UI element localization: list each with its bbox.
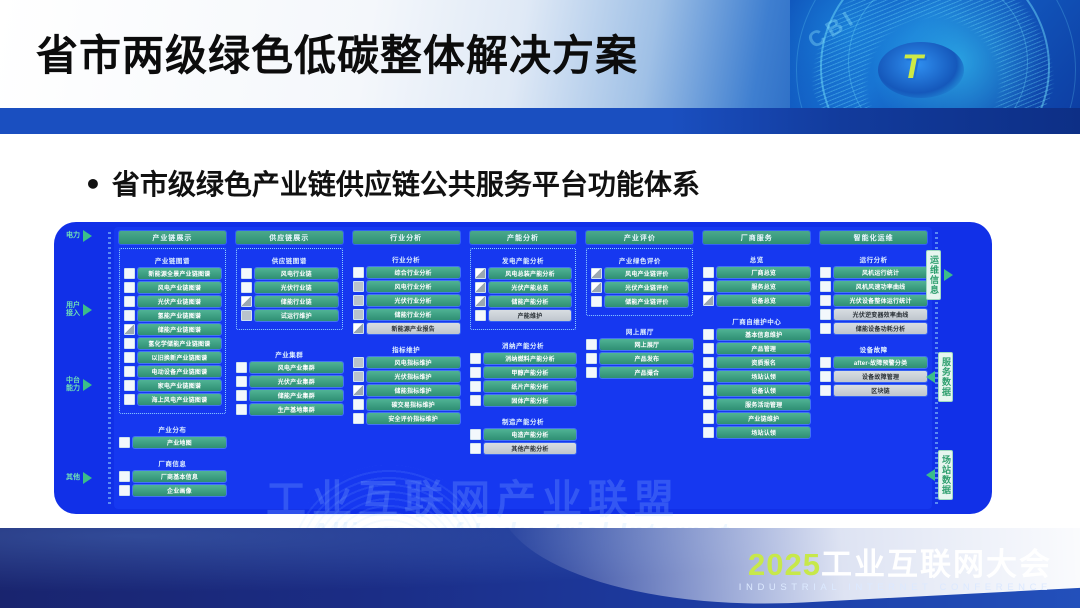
function-item-row[interactable]: 区块链	[820, 385, 927, 396]
diagram-body: 工业互联网产业联盟 Alliance of Industrial Interne…	[114, 227, 932, 509]
triangle-right-icon	[83, 304, 92, 316]
function-item-row[interactable]: 光伏产能总览	[475, 282, 572, 293]
logo-en: INDUSTRIAL INTERNET CONFERENCE	[739, 582, 1052, 593]
function-item-button[interactable]: 光伏产业链评价	[605, 282, 688, 293]
function-item-row[interactable]: 海上风电产业链图谱	[124, 394, 221, 405]
function-item-button[interactable]: 风电产业链评价	[605, 268, 688, 279]
checkbox-icon[interactable]	[820, 309, 831, 320]
checkbox-icon[interactable]	[475, 310, 486, 321]
checkbox-icon[interactable]	[591, 282, 602, 293]
checkbox-icon[interactable]	[703, 281, 714, 292]
function-item-button[interactable]: 风电产业集群	[250, 362, 343, 373]
checkbox-icon[interactable]	[475, 268, 486, 279]
triangle-left-icon	[926, 469, 935, 481]
function-column: 行业分析行业分析综合行业分析风电行业分析光伏行业分析储能行业分析新能源产业报告指…	[348, 227, 465, 509]
function-item-button[interactable]: 产能维护	[489, 310, 572, 321]
function-item-button[interactable]: 服务总览	[717, 281, 810, 292]
function-section: 制造产能分析电造产能分析其他产能分析	[470, 410, 577, 454]
checkbox-icon[interactable]	[703, 295, 714, 306]
function-item-row[interactable]: 资质报名	[703, 357, 810, 368]
checkbox-icon[interactable]	[124, 282, 135, 293]
section-title: 产业链图谱	[124, 255, 221, 265]
function-section: 厂商信息厂商基本信息企业画像	[119, 452, 226, 496]
function-item-row[interactable]: 光伏设备整体运行统计	[820, 295, 927, 306]
function-item-row[interactable]: 风电指标维护	[353, 357, 460, 368]
section-title: 网上展厅	[586, 326, 693, 336]
triangle-right-icon	[83, 379, 92, 391]
function-item-row[interactable]: 储能设备功耗分析	[820, 323, 927, 334]
function-item-row[interactable]: 产业地图	[119, 437, 226, 448]
triangle-right-icon	[944, 269, 953, 281]
section-title: 产业分布	[119, 424, 226, 434]
function-item-button[interactable]: 光伏指标维护	[367, 371, 460, 382]
checkbox-icon[interactable]	[236, 362, 247, 373]
function-column: 供应链展示供应链图谱风电行业链光伏行业链储能行业链试运行维护产业集群风电产业集群…	[231, 227, 348, 509]
function-item-row[interactable]: 服务总览	[703, 281, 810, 292]
checkbox-icon[interactable]	[124, 366, 135, 377]
column-header[interactable]: 产业评价	[586, 231, 693, 244]
function-item-button[interactable]: 储能产业集群	[250, 390, 343, 401]
function-section: 产业链图谱新能源全景产业链图谱风电产业链图谱光伏产业链图谱氢能产业链图谱储能产业…	[119, 248, 226, 414]
function-item-button[interactable]: 光伏设备整体运行统计	[834, 295, 927, 306]
checkbox-icon[interactable]	[703, 399, 714, 410]
function-item-button[interactable]: 甲醇产能分析	[484, 367, 577, 378]
function-item-row[interactable]: 氢化学储能产业链图谱	[124, 338, 221, 349]
column-header[interactable]: 产能分析	[470, 231, 577, 244]
function-item-row[interactable]: 储能产业链图谱	[124, 324, 221, 335]
checkbox-icon[interactable]	[124, 268, 135, 279]
function-item-button[interactable]: 氢能产业链图谱	[138, 310, 221, 321]
checkbox-icon[interactable]	[820, 385, 831, 396]
function-item-button[interactable]: 风电指标维护	[367, 357, 460, 368]
function-item-button[interactable]: 综合行业分析	[367, 267, 460, 278]
checkbox-icon[interactable]	[241, 268, 252, 279]
checkbox-icon[interactable]	[591, 296, 602, 307]
checkbox-icon[interactable]	[703, 329, 714, 340]
function-item-button[interactable]: 新能源产业报告	[367, 323, 460, 334]
function-item-button[interactable]: 其他产能分析	[484, 443, 577, 454]
column-header[interactable]: 行业分析	[353, 231, 460, 244]
function-item-button[interactable]: 氢化学储能产业链图谱	[138, 338, 221, 349]
function-item-button[interactable]: 光伏行业链	[255, 282, 338, 293]
function-item-button[interactable]: 基本信息维护	[717, 329, 810, 340]
rail-left-label: 中台 能力	[66, 377, 80, 393]
function-item-button[interactable]: 风机运行统计	[834, 267, 927, 278]
section-title: 厂商信息	[119, 458, 226, 468]
section-title: 指标维护	[353, 344, 460, 354]
function-section: 行业分析综合行业分析风电行业分析光伏行业分析储能行业分析新能源产业报告	[353, 248, 460, 334]
column-header[interactable]: 智能化运维	[820, 231, 927, 244]
input-rail-left	[54, 222, 114, 514]
rail-tick-marks-left	[108, 232, 111, 504]
function-item-row[interactable]: 储能行业分析	[353, 309, 460, 320]
function-item-button[interactable]: 企业画像	[133, 485, 226, 496]
checkbox-icon[interactable]	[470, 429, 481, 440]
checkbox-icon[interactable]	[820, 267, 831, 278]
function-item-row[interactable]: 风电产业链评价	[591, 268, 688, 279]
function-columns: 产业链展示产业链图谱新能源全景产业链图谱风电产业链图谱光伏产业链图谱氢能产业链图…	[114, 227, 932, 509]
function-item-row[interactable]: 光伏逆变器效率曲线	[820, 309, 927, 320]
slide-root: CBI T 省市两级绿色低碳整体解决方案 •省市级绿色产业链供应链公共服务平台功…	[0, 0, 1080, 608]
function-section: 产业分布产业地图	[119, 418, 226, 448]
function-item-row[interactable]: 试运行维护	[241, 310, 338, 321]
function-item-button[interactable]: 厂商总览	[717, 267, 810, 278]
checkbox-icon[interactable]	[475, 282, 486, 293]
function-item-row[interactable]: 储能产能分析	[475, 296, 572, 307]
function-item-button[interactable]: 服务活动管理	[717, 399, 810, 410]
function-item-button[interactable]: 固体产能分析	[484, 395, 577, 406]
column-header[interactable]: 供应链展示	[236, 231, 343, 244]
function-item-row[interactable]: 生产基地集群	[236, 404, 343, 415]
function-item-row[interactable]: 产品发布	[586, 353, 693, 364]
checkbox-icon[interactable]	[820, 371, 831, 382]
function-item-button[interactable]: 电造产能分析	[484, 429, 577, 440]
function-item-button[interactable]: 产业链维护	[717, 413, 810, 424]
checkbox-icon[interactable]	[470, 443, 481, 454]
function-item-button[interactable]: 产品撮合	[600, 367, 693, 378]
function-column: 产业链展示产业链图谱新能源全景产业链图谱风电产业链图谱光伏产业链图谱氢能产业链图…	[114, 227, 231, 509]
function-item-button[interactable]: 光伏行业分析	[367, 295, 460, 306]
checkbox-icon[interactable]	[820, 281, 831, 292]
function-item-button[interactable]: 储能行业分析	[367, 309, 460, 320]
subtitle-text: 省市级绿色产业链供应链公共服务平台功能体系	[112, 168, 700, 201]
checkbox-icon[interactable]	[353, 399, 364, 410]
function-item-row[interactable]: 设备故障管理	[820, 371, 927, 382]
checkbox-icon[interactable]	[119, 485, 130, 496]
function-item-row[interactable]: 储能产业链评价	[591, 296, 688, 307]
checkbox-icon[interactable]	[241, 310, 252, 321]
section-subtitle: •省市级绿色产业链供应链公共服务平台功能体系	[84, 163, 700, 203]
function-item-button[interactable]: 生产基地集群	[250, 404, 343, 415]
checkbox-icon[interactable]	[470, 353, 481, 364]
checkbox-icon[interactable]	[703, 427, 714, 438]
function-item-button[interactable]: 场站认领	[717, 427, 810, 438]
function-item-button[interactable]: after-故障预警分类	[834, 357, 927, 368]
checkbox-icon[interactable]	[703, 385, 714, 396]
checkbox-icon[interactable]	[353, 371, 364, 382]
checkbox-icon[interactable]	[820, 295, 831, 306]
checkbox-icon[interactable]	[703, 357, 714, 368]
function-item-button[interactable]: 储能产业链图谱	[138, 324, 221, 335]
function-item-button[interactable]: 光伏产业集群	[250, 376, 343, 387]
column-header[interactable]: 产业链展示	[119, 231, 226, 244]
checkbox-icon[interactable]	[475, 296, 486, 307]
function-item-button[interactable]: 场站认领	[717, 371, 810, 382]
t-logo-glyph: T	[902, 50, 923, 84]
function-item-row[interactable]: 风电总装产能分析	[475, 268, 572, 279]
bullet-icon: •	[84, 168, 102, 201]
checkbox-icon[interactable]	[820, 357, 831, 368]
function-section: 消纳产能分析消纳燃料产能分析甲醇产能分析纸片产能分析固体产能分析	[470, 334, 577, 406]
checkbox-icon[interactable]	[353, 357, 364, 368]
checkbox-icon[interactable]	[119, 471, 130, 482]
function-item-button[interactable]: 光伏产业链图谱	[138, 296, 221, 307]
function-item-row[interactable]: 固体产能分析	[470, 395, 577, 406]
platform-function-diagram: 工业互联网产业联盟 Alliance of Industrial Interne…	[54, 222, 992, 514]
function-item-row[interactable]: 安全评价指标维护	[353, 413, 460, 424]
title-underbar	[0, 108, 1080, 134]
function-item-row[interactable]: 企业画像	[119, 485, 226, 496]
checkbox-icon[interactable]	[470, 367, 481, 378]
function-item-row[interactable]: 基本信息维护	[703, 329, 810, 340]
function-item-row[interactable]: 风电行业分析	[353, 281, 460, 292]
rail-left-label: 用户 接入	[66, 302, 80, 318]
function-section: 指标维护风电指标维护光伏指标维护储能指标维护碳交易指标维护安全评价指标维护	[353, 338, 460, 424]
function-item-button[interactable]: 风电行业链	[255, 268, 338, 279]
function-item-button[interactable]: 设备认领	[717, 385, 810, 396]
function-item-row[interactable]: 风机风速功率曲线	[820, 281, 927, 292]
function-section: 供应链图谱风电行业链光伏行业链储能行业链试运行维护	[236, 248, 343, 330]
function-item-row[interactable]: 纸片产能分析	[470, 381, 577, 392]
function-item-button[interactable]: 厂商基本信息	[133, 471, 226, 482]
function-item-button[interactable]: 电动设备产业链图谱	[138, 366, 221, 377]
function-item-button[interactable]: 资质报名	[717, 357, 810, 368]
function-section: 网上展厅网上展厅产品发布产品撮合	[586, 320, 693, 378]
banner-decoration-graphic: CBI T	[790, 0, 1080, 112]
function-item-row[interactable]: 产品管理	[703, 343, 810, 354]
section-title: 总览	[703, 254, 810, 264]
function-item-button[interactable]: 风电产业链图谱	[138, 282, 221, 293]
function-item-row[interactable]: 电动设备产业链图谱	[124, 366, 221, 377]
function-item-button[interactable]: 风电总装产能分析	[489, 268, 572, 279]
function-item-row[interactable]: 储能行业链	[241, 296, 338, 307]
function-item-row[interactable]: 氢能产业链图谱	[124, 310, 221, 321]
checkbox-icon[interactable]	[236, 390, 247, 401]
function-item-row[interactable]: 其他产能分析	[470, 443, 577, 454]
function-column: 产业评价产业绿色评价风电产业链评价光伏产业链评价储能产业链评价网上展厅网上展厅产…	[581, 227, 698, 509]
checkbox-icon[interactable]	[591, 268, 602, 279]
section-title: 发电产能分析	[475, 255, 572, 265]
function-item-row[interactable]: 产能维护	[475, 310, 572, 321]
function-item-button[interactable]: 风电行业分析	[367, 281, 460, 292]
triangle-right-icon	[83, 472, 92, 484]
triangle-left-icon	[926, 371, 935, 383]
function-item-row[interactable]: 光伏产业链评价	[591, 282, 688, 293]
conference-logo: 2025工业互联网大会 INDUSTRIAL INTERNET CONFEREN…	[739, 548, 1052, 593]
function-item-row[interactable]: 甲醇产能分析	[470, 367, 577, 378]
function-item-button[interactable]: 产品管理	[717, 343, 810, 354]
function-section: 产业绿色评价风电产业链评价光伏产业链评价储能产业链评价	[586, 248, 693, 316]
function-item-button[interactable]: 光伏产能总览	[489, 282, 572, 293]
rail-right-label: 场站数据	[938, 450, 953, 500]
function-item-button[interactable]: 安全评价指标维护	[367, 413, 460, 424]
function-item-row[interactable]: 新能源产业报告	[353, 323, 460, 334]
function-item-button[interactable]: 储能设备功耗分析	[834, 323, 927, 334]
function-item-button[interactable]: 光伏逆变器效率曲线	[834, 309, 927, 320]
checkbox-icon[interactable]	[124, 338, 135, 349]
logo-cn: 工业互联网大会	[821, 547, 1052, 582]
checkbox-icon[interactable]	[353, 323, 364, 334]
function-item-row[interactable]: 储能指标维护	[353, 385, 460, 396]
function-item-row[interactable]: 产业链维护	[703, 413, 810, 424]
checkbox-icon[interactable]	[353, 413, 364, 424]
function-item-button[interactable]: 设备总览	[717, 295, 810, 306]
section-title: 供应链图谱	[241, 255, 338, 265]
function-item-row[interactable]: 厂商基本信息	[119, 471, 226, 482]
function-section: 发电产能分析风电总装产能分析光伏产能总览储能产能分析产能维护	[470, 248, 577, 330]
function-item-button[interactable]: 海上风电产业链图谱	[138, 394, 221, 405]
triangle-right-icon	[83, 230, 92, 242]
function-item-row[interactable]: 光伏指标维护	[353, 371, 460, 382]
checkbox-icon[interactable]	[236, 404, 247, 415]
function-item-row[interactable]: 家电产业链图谱	[124, 380, 221, 391]
section-title: 产业绿色评价	[591, 255, 688, 265]
function-item-row[interactable]: 厂商总览	[703, 267, 810, 278]
function-item-row[interactable]: 光伏产业链图谱	[124, 296, 221, 307]
function-item-button[interactable]: 区块链	[834, 385, 927, 396]
function-item-row[interactable]: 网上展厅	[586, 339, 693, 350]
function-item-button[interactable]: 试运行维护	[255, 310, 338, 321]
footer-bar: 2025工业互联网大会 INDUSTRIAL INTERNET CONFEREN…	[0, 528, 1080, 608]
checkbox-icon[interactable]	[586, 353, 597, 364]
rail-right-entry[interactable]: 场站数据	[926, 450, 986, 500]
function-item-row[interactable]: after-故障预警分类	[820, 357, 927, 368]
function-item-button[interactable]: 网上展厅	[600, 339, 693, 350]
function-item-button[interactable]: 消纳燃料产能分析	[484, 353, 577, 364]
checkbox-icon[interactable]	[470, 395, 481, 406]
function-item-button[interactable]: 家电产业链图谱	[138, 380, 221, 391]
function-section: 总览厂商总览服务总览设备总览	[703, 248, 810, 306]
checkbox-icon[interactable]	[124, 296, 135, 307]
function-item-row[interactable]: 消纳燃料产能分析	[470, 353, 577, 364]
checkbox-icon[interactable]	[236, 376, 247, 387]
function-item-button[interactable]: 碳交易指标维护	[367, 399, 460, 410]
function-item-button[interactable]: 产业地图	[133, 437, 226, 448]
checkbox-icon[interactable]	[703, 343, 714, 354]
function-item-row[interactable]: 场站认领	[703, 427, 810, 438]
rail-left-entry[interactable]: 中台 能力	[66, 377, 92, 393]
column-header[interactable]: 厂商服务	[703, 231, 810, 244]
section-title: 设备故障	[820, 344, 927, 354]
rail-left-entry[interactable]: 其他	[66, 472, 92, 484]
rail-right-label: 运维信息	[926, 250, 941, 300]
function-item-row[interactable]: 光伏行业分析	[353, 295, 460, 306]
function-column: 产能分析发电产能分析风电总装产能分析光伏产能总览储能产能分析产能维护消纳产能分析…	[465, 227, 582, 509]
section-title: 运行分析	[820, 254, 927, 264]
checkbox-icon[interactable]	[703, 267, 714, 278]
section-title: 产业集群	[236, 349, 343, 359]
function-item-button[interactable]: 以旧换新产业链图谱	[138, 352, 221, 363]
function-section: 运行分析风机运行统计风机风速功率曲线光伏设备整体运行统计光伏逆变器效率曲线储能设…	[820, 248, 927, 334]
section-title: 消纳产能分析	[470, 340, 577, 350]
function-item-row[interactable]: 设备认领	[703, 385, 810, 396]
checkbox-icon[interactable]	[586, 339, 597, 350]
section-title: 厂商自维护中心	[703, 316, 810, 326]
function-item-row[interactable]: 设备总览	[703, 295, 810, 306]
function-item-button[interactable]: 产品发布	[600, 353, 693, 364]
checkbox-icon[interactable]	[703, 413, 714, 424]
function-column: 厂商服务总览厂商总览服务总览设备总览厂商自维护中心基本信息维护产品管理资质报名场…	[698, 227, 815, 509]
function-item-button[interactable]: 储能指标维护	[367, 385, 460, 396]
section-title: 行业分析	[353, 254, 460, 264]
function-item-row[interactable]: 新能源全景产业链图谱	[124, 268, 221, 279]
function-item-button[interactable]: 储能行业链	[255, 296, 338, 307]
rail-left-label: 其他	[66, 474, 80, 482]
section-spacer	[236, 330, 343, 339]
checkbox-icon[interactable]	[353, 267, 364, 278]
function-item-row[interactable]: 服务活动管理	[703, 399, 810, 410]
function-item-button[interactable]: 风机风速功率曲线	[834, 281, 927, 292]
rail-right-entry[interactable]: 服务数据	[926, 352, 986, 402]
function-item-row[interactable]: 风机运行统计	[820, 267, 927, 278]
function-item-button[interactable]: 新能源全景产业链图谱	[138, 268, 221, 279]
function-section: 产业集群风电产业集群光伏产业集群储能产业集群生产基地集群	[236, 343, 343, 415]
checkbox-icon[interactable]	[353, 385, 364, 396]
checkbox-icon[interactable]	[119, 437, 130, 448]
checkbox-icon[interactable]	[353, 309, 364, 320]
function-item-row[interactable]: 光伏产业集群	[236, 376, 343, 387]
checkbox-icon[interactable]	[124, 324, 135, 335]
function-item-row[interactable]: 碳交易指标维护	[353, 399, 460, 410]
function-section: 设备故障after-故障预警分类设备故障管理区块链	[820, 338, 927, 396]
function-item-row[interactable]: 风电产业集群	[236, 362, 343, 373]
checkbox-icon[interactable]	[124, 380, 135, 391]
function-item-row[interactable]: 光伏行业链	[241, 282, 338, 293]
function-item-row[interactable]: 产品撮合	[586, 367, 693, 378]
title-banner: CBI T 省市两级绿色低碳整体解决方案	[0, 0, 1080, 112]
checkbox-icon[interactable]	[241, 282, 252, 293]
checkbox-icon[interactable]	[241, 296, 252, 307]
rail-right-entry[interactable]: 运维信息	[926, 250, 986, 300]
checkbox-icon[interactable]	[124, 394, 135, 405]
function-column: 智能化运维运行分析风机运行统计风机风速功率曲线光伏设备整体运行统计光伏逆变器效率…	[815, 227, 932, 509]
function-item-row[interactable]: 电造产能分析	[470, 429, 577, 440]
rail-left-entry[interactable]: 电力	[66, 230, 92, 242]
checkbox-icon[interactable]	[124, 310, 135, 321]
function-item-row[interactable]: 风电行业链	[241, 268, 338, 279]
rail-right-label: 服务数据	[938, 352, 953, 402]
function-item-button[interactable]: 纸片产能分析	[484, 381, 577, 392]
function-item-row[interactable]: 以旧换新产业链图谱	[124, 352, 221, 363]
function-item-row[interactable]: 储能产业集群	[236, 390, 343, 401]
checkbox-icon[interactable]	[124, 352, 135, 363]
function-item-button[interactable]: 储能产业链评价	[605, 296, 688, 307]
checkbox-icon[interactable]	[353, 295, 364, 306]
function-item-row[interactable]: 综合行业分析	[353, 267, 460, 278]
function-item-button[interactable]: 设备故障管理	[834, 371, 927, 382]
section-title: 制造产能分析	[470, 416, 577, 426]
function-section: 厂商自维护中心基本信息维护产品管理资质报名场站认领设备认领服务活动管理产业链维护…	[703, 310, 810, 438]
checkbox-icon[interactable]	[353, 281, 364, 292]
function-item-button[interactable]: 储能产能分析	[489, 296, 572, 307]
function-item-row[interactable]: 风电产业链图谱	[124, 282, 221, 293]
function-item-row[interactable]: 场站认领	[703, 371, 810, 382]
rail-left-label: 电力	[66, 232, 80, 240]
checkbox-icon[interactable]	[703, 371, 714, 382]
checkbox-icon[interactable]	[820, 323, 831, 334]
checkbox-icon[interactable]	[470, 381, 481, 392]
logo-year: 2025	[748, 547, 821, 582]
checkbox-icon[interactable]	[586, 367, 597, 378]
rail-left-entry[interactable]: 用户 接入	[66, 302, 92, 318]
page-title: 省市两级绿色低碳整体解决方案	[36, 22, 638, 83]
